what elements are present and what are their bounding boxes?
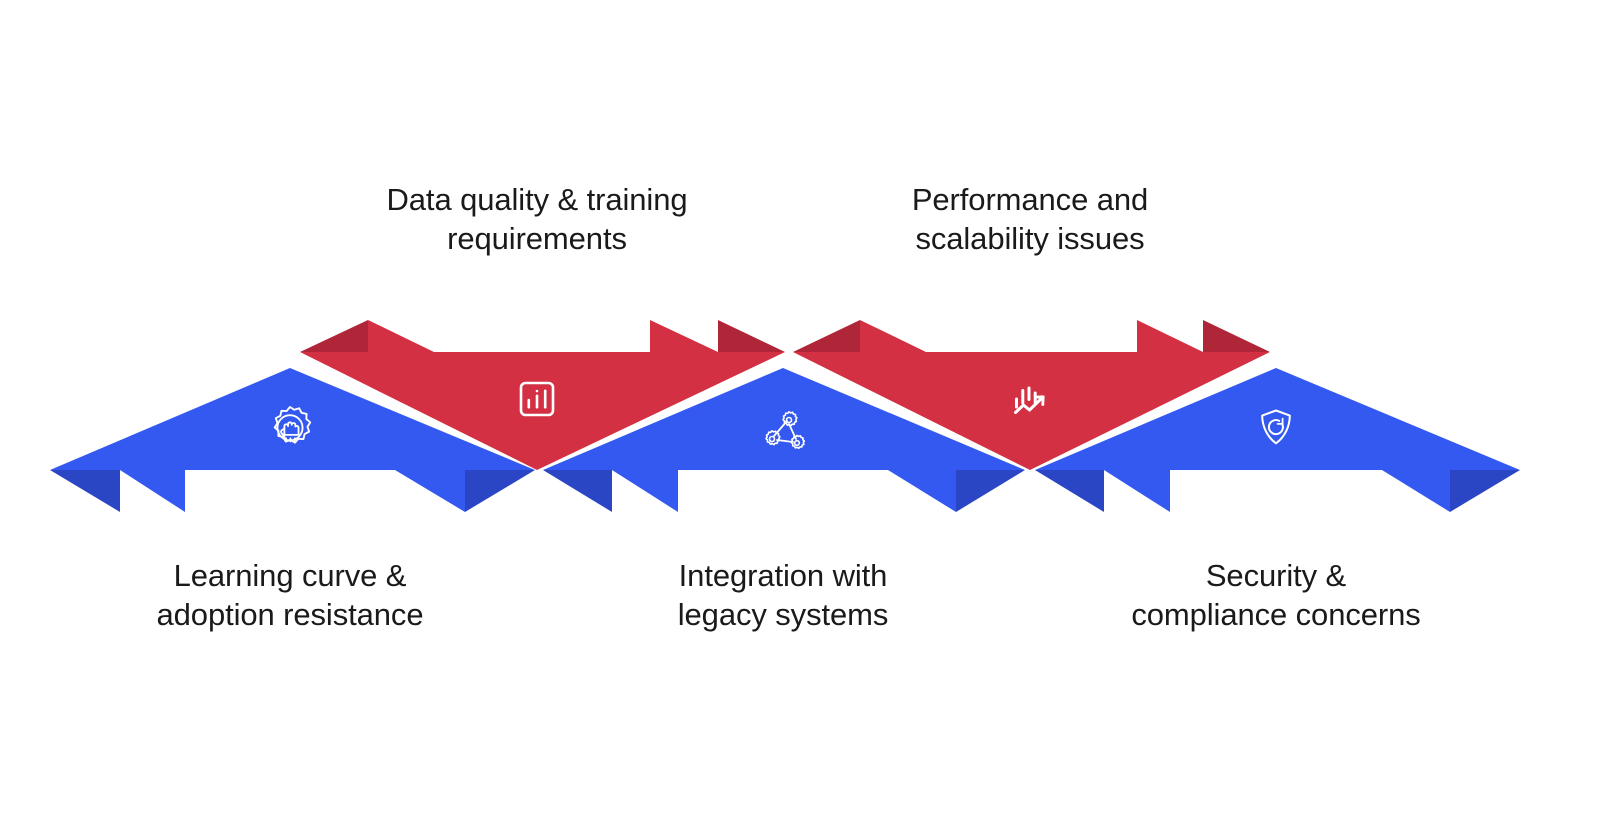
chevron-shapes-layer — [0, 0, 1600, 831]
chevron-tail-left — [793, 320, 860, 352]
chevron-tail-right — [956, 470, 1025, 512]
chevron-tail-left — [543, 470, 612, 512]
chevron-tail-left — [300, 320, 368, 352]
chevron-tail-right — [718, 320, 785, 352]
chevron-tail-right — [465, 470, 535, 512]
chevron-tail-right — [1203, 320, 1270, 352]
diagram-canvas: Data quality & training requirements Per… — [0, 0, 1600, 831]
chevron-tail-right — [1450, 470, 1520, 512]
chevron-tail-left — [50, 470, 120, 512]
chevron-tail-left — [1035, 470, 1104, 512]
